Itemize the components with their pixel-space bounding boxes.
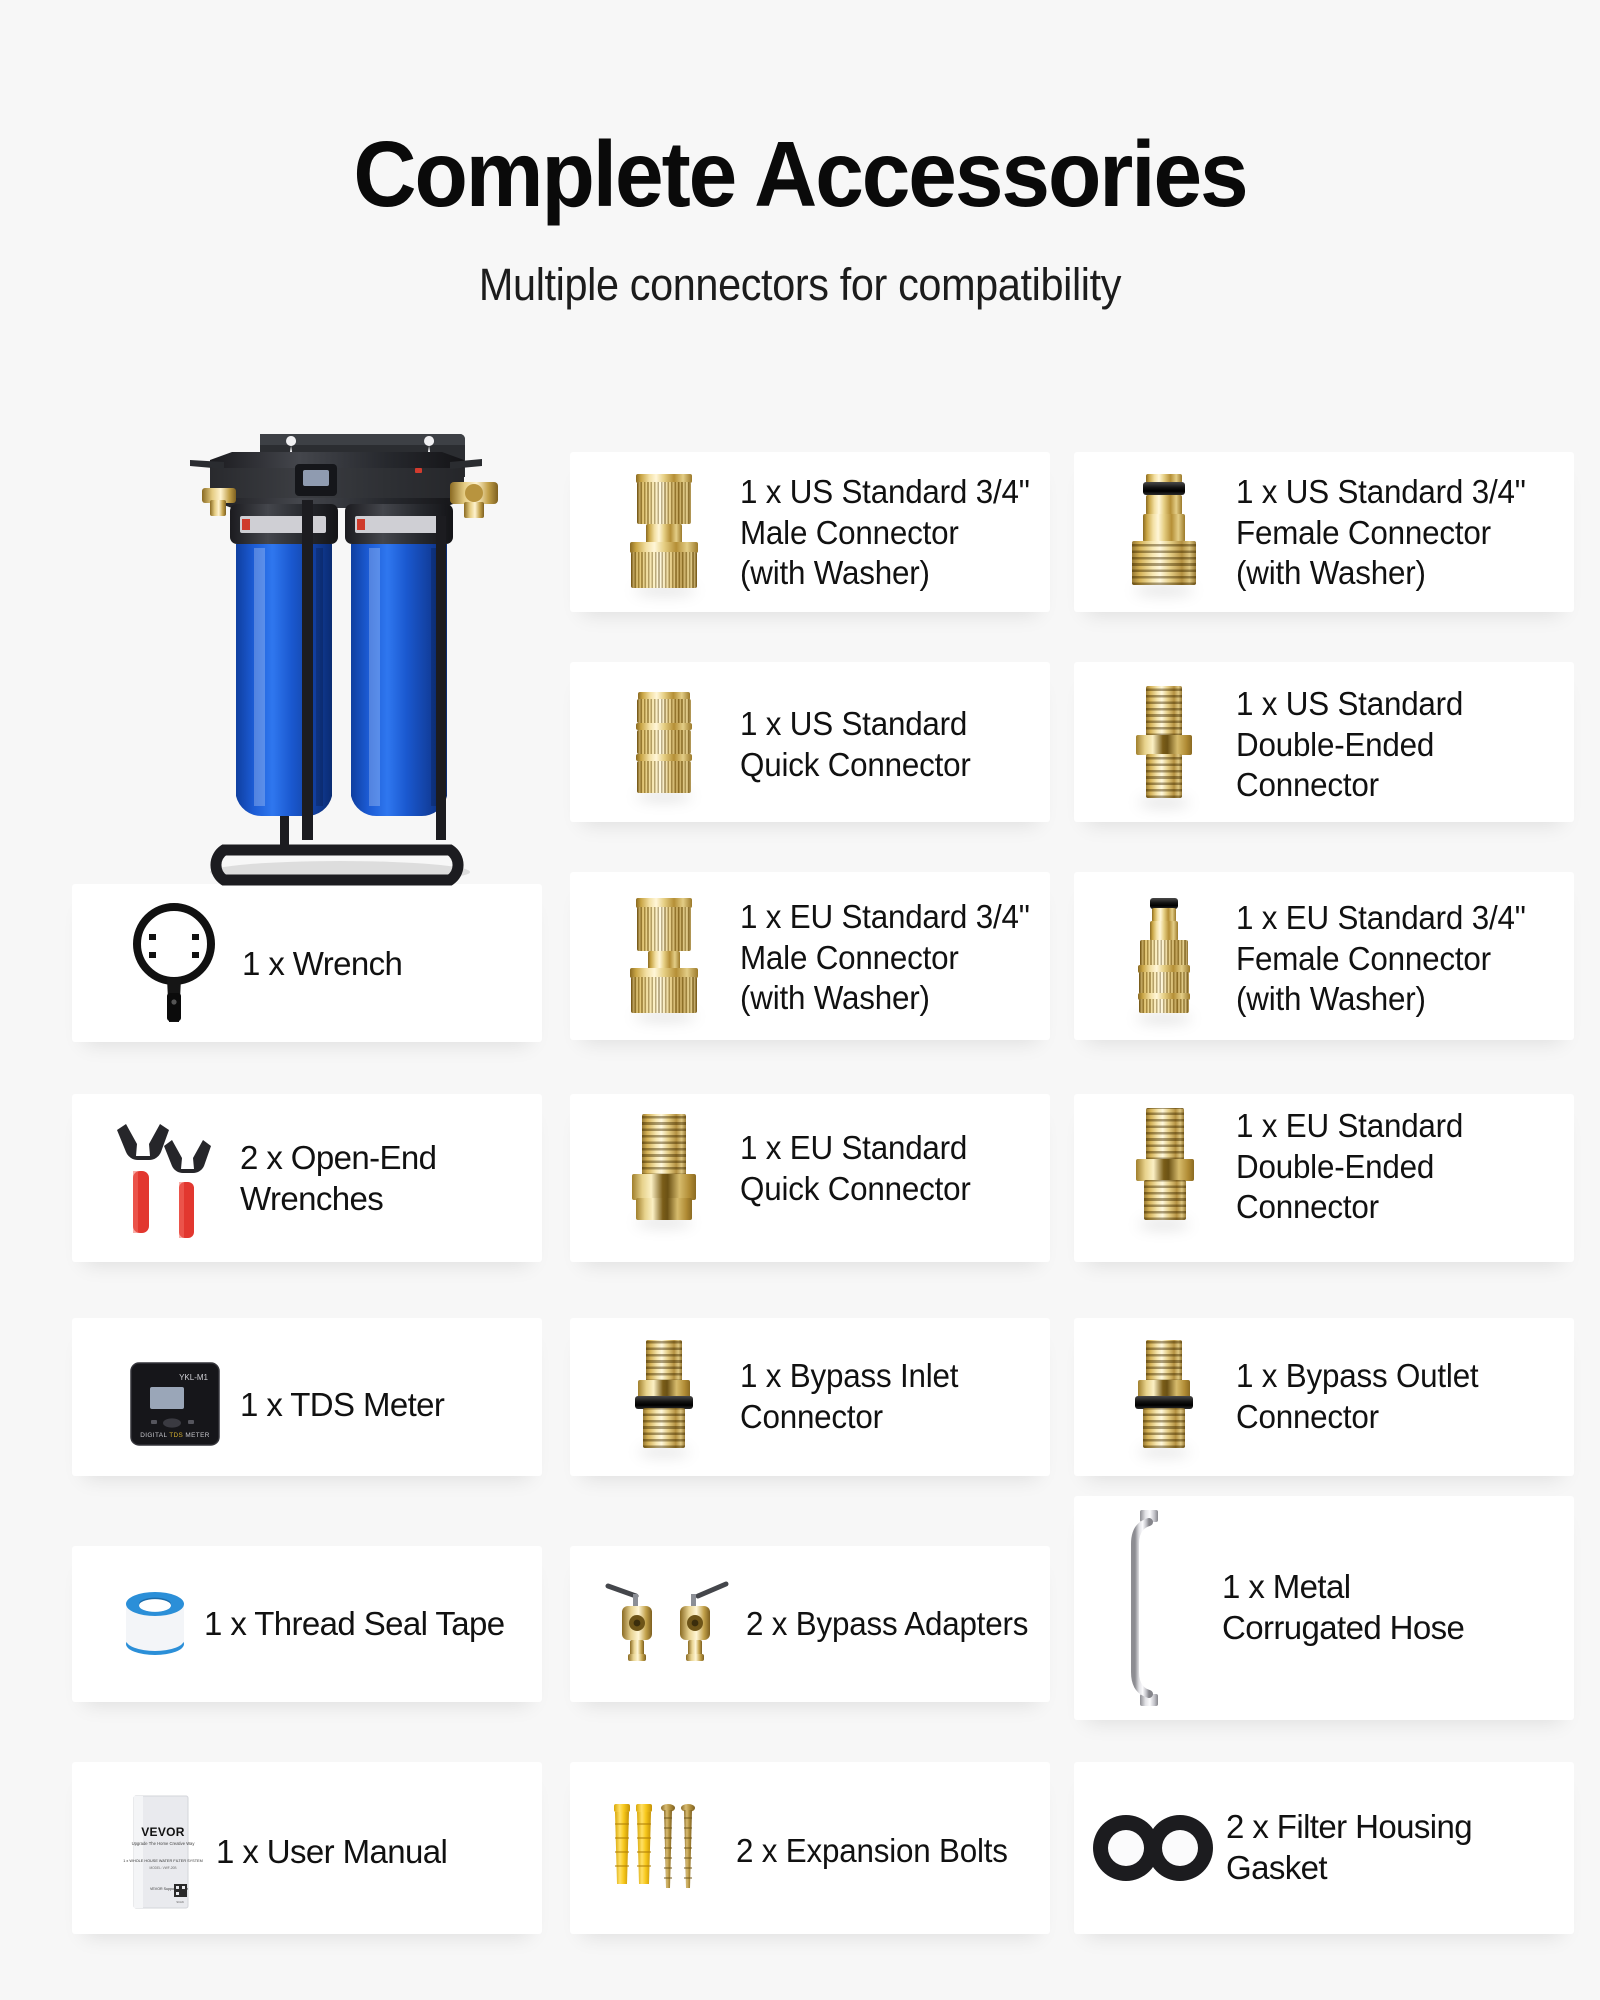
svg-text:SCAN: SCAN bbox=[176, 1900, 183, 1904]
accessories-infographic: Complete Accessories Multiple connectors… bbox=[0, 0, 1600, 2000]
svg-text:DIGITAL TDS METER: DIGITAL TDS METER bbox=[140, 1432, 210, 1439]
bypass-outlet-thumb bbox=[1114, 1334, 1214, 1460]
item-open-end-wrenches: 2 x Open-End Wrenches bbox=[110, 1108, 550, 1250]
metal-hose-thumb bbox=[1114, 1506, 1188, 1710]
user-manual-thumb: VEVOR Upgrade The Home Creative Way 1 x … bbox=[118, 1790, 204, 1914]
eu-female-connector-thumb bbox=[1114, 892, 1214, 1026]
eu-male-connector-thumb bbox=[610, 892, 718, 1024]
svg-text:Upgrade The Home Creative Way: Upgrade The Home Creative Way bbox=[132, 1841, 196, 1846]
item-eu-male-connector: 1 x EU Standard 3/4" Male Connector (wit… bbox=[610, 892, 1050, 1024]
eu-double-ended-label: 1 x EU Standard Double-Ended Connector bbox=[1236, 1106, 1463, 1229]
tds-meter-thumb: YKL-M1 DIGITAL TDS METER bbox=[122, 1355, 228, 1455]
filter-wrench-icon bbox=[118, 898, 230, 1030]
item-wrench: 1 x Wrench bbox=[118, 898, 548, 1030]
us-male-connector-label: 1 x US Standard 3/4" Male Connector (wit… bbox=[740, 472, 1030, 595]
tds-meter-label: 1 x TDS Meter bbox=[240, 1385, 444, 1426]
metal-hose-label: 1 x Metal Corrugated Hose bbox=[1222, 1567, 1464, 1649]
item-bypass-outlet-connector: 1 x Bypass Outlet Connector bbox=[1114, 1334, 1584, 1460]
bypass-inlet-label: 1 x Bypass Inlet Connector bbox=[740, 1356, 958, 1438]
thread-seal-tape-icon bbox=[112, 1578, 198, 1670]
user-manual-icon: VEVOR Upgrade The Home Creative Way 1 x … bbox=[118, 1790, 204, 1914]
metal-corrugated-hose-icon bbox=[1114, 1506, 1188, 1710]
us-female-connector-label: 1 x US Standard 3/4" Female Connector (w… bbox=[1236, 472, 1526, 595]
item-us-quick-connector: 1 x US Standard Quick Connector bbox=[610, 686, 1050, 804]
product-hero bbox=[150, 420, 520, 890]
wrench-label: 1 x Wrench bbox=[242, 944, 402, 985]
expansion-bolts-label: 2 x Expansion Bolts bbox=[736, 1831, 1008, 1872]
open-end-wrenches-label: 2 x Open-End Wrenches bbox=[240, 1138, 436, 1220]
us-female-connector-thumb bbox=[1114, 468, 1214, 598]
user-manual-label: 1 x User Manual bbox=[216, 1832, 447, 1873]
item-eu-female-connector: 1 x EU Standard 3/4" Female Connector (w… bbox=[1114, 892, 1584, 1026]
svg-text:MODEL: VWF-20B: MODEL: VWF-20B bbox=[150, 1866, 177, 1870]
bypass-adapters-label: 2 x Bypass Adapters bbox=[746, 1604, 1028, 1645]
us-quick-connector-thumb bbox=[610, 686, 718, 804]
svg-text:1 x WHOLE HOUSE WATER FILTER S: 1 x WHOLE HOUSE WATER FILTER SYSTEM bbox=[123, 1859, 202, 1863]
item-bypass-adapters: 2 x Bypass Adapters bbox=[600, 1570, 1060, 1678]
bypass-adapter-valve-icon bbox=[600, 1570, 734, 1678]
item-thread-seal-tape: 1 x Thread Seal Tape bbox=[112, 1578, 552, 1670]
item-filter-housing-gasket: 2 x Filter Housing Gasket bbox=[1086, 1796, 1586, 1900]
item-us-male-connector: 1 x US Standard 3/4" Male Connector (wit… bbox=[610, 468, 1050, 598]
item-expansion-bolts: 2 x Expansion Bolts bbox=[602, 1796, 1052, 1906]
open-end-wrench-icon bbox=[110, 1108, 228, 1250]
filter-gasket-label: 2 x Filter Housing Gasket bbox=[1226, 1807, 1472, 1889]
open-end-wrenches-thumb bbox=[110, 1108, 228, 1250]
thread-seal-tape-thumb bbox=[112, 1578, 198, 1670]
tds-meter-icon: YKL-M1 DIGITAL TDS METER bbox=[122, 1355, 228, 1455]
item-eu-quick-connector: 1 x EU Standard Quick Connector bbox=[610, 1108, 1050, 1230]
water-filter-system-icon bbox=[150, 420, 520, 890]
wrench-thumb bbox=[118, 898, 230, 1030]
filter-gasket-thumb bbox=[1086, 1808, 1220, 1888]
item-tds-meter: YKL-M1 DIGITAL TDS METER 1 x TDS Meter bbox=[122, 1352, 552, 1458]
eu-male-connector-label: 1 x EU Standard 3/4" Male Connector (wit… bbox=[740, 897, 1030, 1020]
item-us-female-connector: 1 x US Standard 3/4" Female Connector (w… bbox=[1114, 468, 1584, 598]
us-double-ended-thumb bbox=[1114, 680, 1214, 810]
filter-housing-gasket-icon bbox=[1086, 1808, 1220, 1888]
us-quick-connector-label: 1 x US Standard Quick Connector bbox=[740, 704, 971, 786]
bypass-outlet-label: 1 x Bypass Outlet Connector bbox=[1236, 1356, 1478, 1438]
item-metal-corrugated-hose: 1 x Metal Corrugated Hose bbox=[1114, 1506, 1584, 1710]
item-eu-double-ended-connector: 1 x EU Standard Double-Ended Connector bbox=[1114, 1102, 1584, 1232]
bypass-inlet-thumb bbox=[610, 1334, 718, 1460]
us-male-connector-thumb bbox=[610, 468, 718, 598]
expansion-bolts-thumb bbox=[602, 1796, 726, 1906]
eu-double-ended-thumb bbox=[1114, 1102, 1214, 1232]
item-user-manual: VEVOR Upgrade The Home Creative Way 1 x … bbox=[118, 1790, 558, 1914]
us-double-ended-label: 1 x US Standard Double-Ended Connector bbox=[1236, 684, 1463, 807]
eu-quick-connector-thumb bbox=[610, 1108, 718, 1230]
eu-quick-connector-label: 1 x EU Standard Quick Connector bbox=[740, 1128, 971, 1210]
item-us-double-ended-connector: 1 x US Standard Double-Ended Connector bbox=[1114, 680, 1584, 810]
eu-female-connector-label: 1 x EU Standard 3/4" Female Connector (w… bbox=[1236, 898, 1526, 1021]
item-bypass-inlet-connector: 1 x Bypass Inlet Connector bbox=[610, 1334, 1050, 1460]
expansion-bolt-icon bbox=[602, 1796, 726, 1906]
bypass-adapters-thumb bbox=[600, 1570, 734, 1678]
thread-seal-tape-label: 1 x Thread Seal Tape bbox=[204, 1604, 505, 1645]
svg-text:YKL-M1: YKL-M1 bbox=[179, 1373, 208, 1382]
svg-text:VEVOR: VEVOR bbox=[141, 1825, 185, 1839]
